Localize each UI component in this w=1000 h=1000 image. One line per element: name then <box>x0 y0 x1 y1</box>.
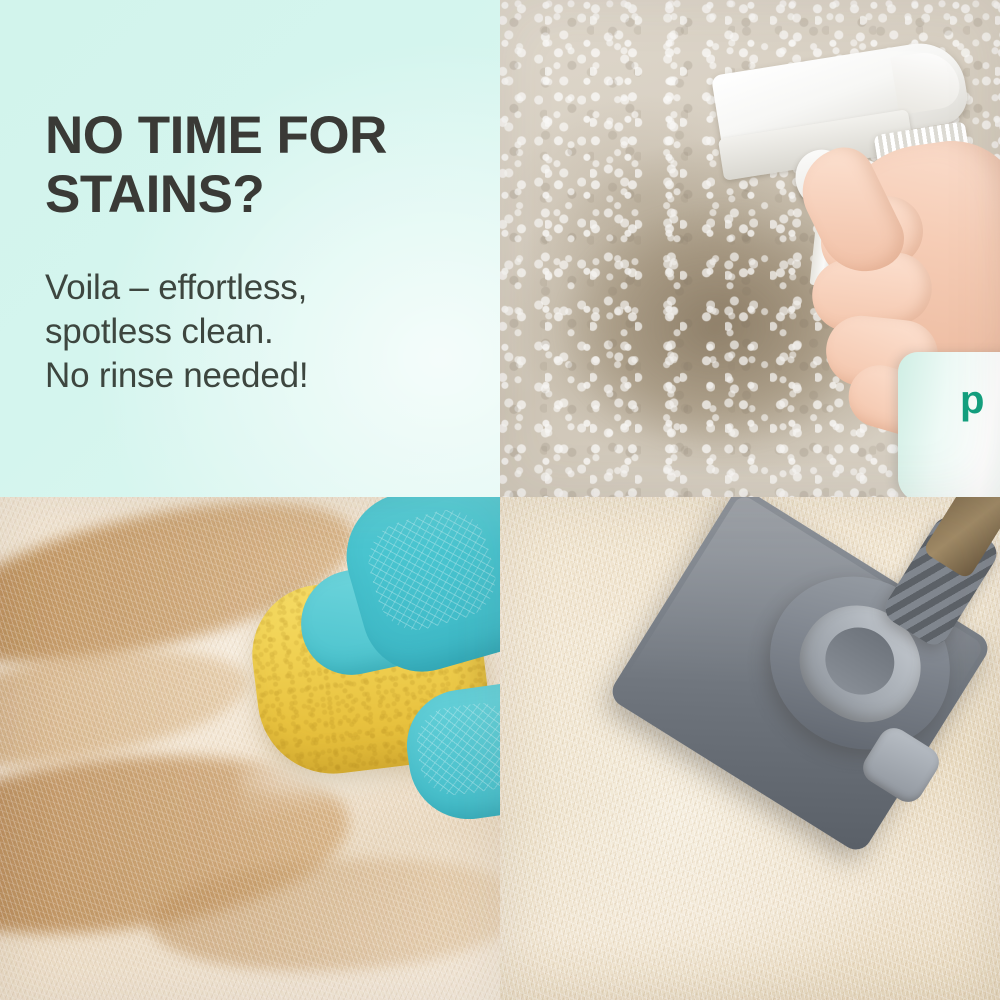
carpet-photo-stained: p <box>500 0 1000 497</box>
carpet-photo-brown-stain <box>0 497 500 1000</box>
subcopy-line-3: No rinse needed! <box>45 354 465 398</box>
subheading-copy: Voila – effortless, spotless clean. No r… <box>45 266 465 398</box>
step-2-photo-panel: 2. Agitate with brush <box>0 497 500 1000</box>
step-1-photo-panel: p 1. Just spray directly on stain <box>500 0 1000 497</box>
step-3-photo-panel: 3. Air dry or vacuum clean <box>500 497 1000 1000</box>
stain-remover-infographic: NO TIME FOR STAINS? Voila – effortless, … <box>0 0 1000 1000</box>
headline-line-1: NO TIME FOR <box>45 106 475 165</box>
brand-letter: p <box>960 380 984 420</box>
text-panel: NO TIME FOR STAINS? Voila – effortless, … <box>0 0 500 497</box>
carpet-photo-clean-shag <box>500 497 1000 1000</box>
subcopy-line-1: Voila – effortless, <box>45 266 465 310</box>
product-bottle-label-partial: p <box>898 352 1000 497</box>
page-title: NO TIME FOR STAINS? <box>45 106 475 224</box>
vacuum-cleaner-head <box>650 545 1000 845</box>
subcopy-line-2: spotless clean. <box>45 310 465 354</box>
headline-line-2: STAINS? <box>45 165 475 224</box>
